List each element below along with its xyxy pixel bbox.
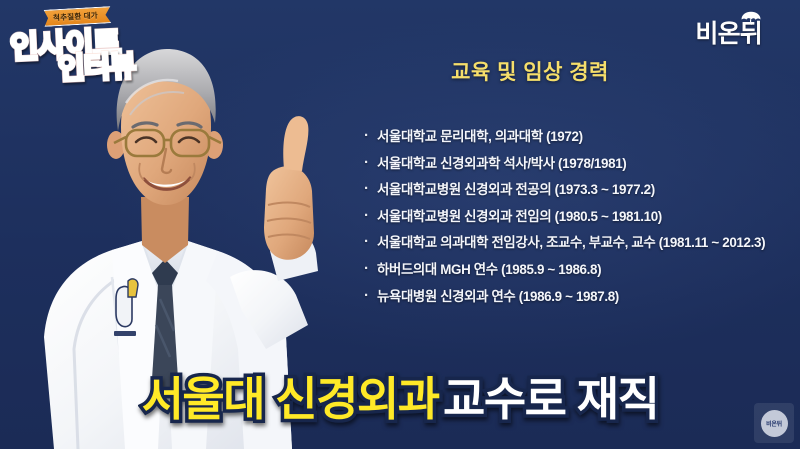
show-logo-line2: 인터뷰 xyxy=(57,42,136,87)
list-item: 뉴욕대병원 신경외과 연수 (1986.9 ~ 1987.8) xyxy=(364,284,800,311)
channel-brand: 비온뒤 xyxy=(695,14,762,56)
subtitle-caption: 서울대 신경외과 교수로 재직 xyxy=(0,363,800,429)
show-logo: 척추질환 대가 인사이트 인터뷰 xyxy=(6,4,174,76)
watermark-label: 비온뒤 xyxy=(761,410,788,437)
umbrella-icon xyxy=(740,11,764,25)
list-item: 하버드의대 MGH 연수 (1985.9 ~ 1986.8) xyxy=(364,257,800,284)
caption-highlight: 서울대 신경외과 xyxy=(142,373,439,425)
credentials-list: 서울대학교 문리대학, 의과대학 (1972) 서울대학교 신경외과학 석사/박… xyxy=(364,124,800,310)
list-item: 서울대학교 신경외과학 석사/박사 (1978/1981) xyxy=(364,151,800,178)
list-item: 서울대학교병원 신경외과 전공의 (1973.3 ~ 1977.2) xyxy=(364,177,800,204)
list-item: 서울대학교 문리대학, 의과대학 (1972) xyxy=(364,124,800,151)
list-item: 서울대학교병원 신경외과 전임의 (1980.5 ~ 1981.10) xyxy=(364,204,800,231)
list-item: 서울대학교 의과대학 전임강사, 조교수, 부교수, 교수 (1981.11 ~… xyxy=(364,230,800,257)
credentials-panel: 교육 및 임상 경력 서울대학교 문리대학, 의과대학 (1972) 서울대학교… xyxy=(330,56,800,356)
watermark-badge: 비온뒤 xyxy=(754,403,794,443)
caption-rest: 교수로 재직 xyxy=(443,373,658,425)
video-frame: 척추질환 대가 인사이트 인터뷰 비온뒤 xyxy=(0,0,800,449)
panel-title: 교육 및 임상 경력 xyxy=(340,56,720,86)
